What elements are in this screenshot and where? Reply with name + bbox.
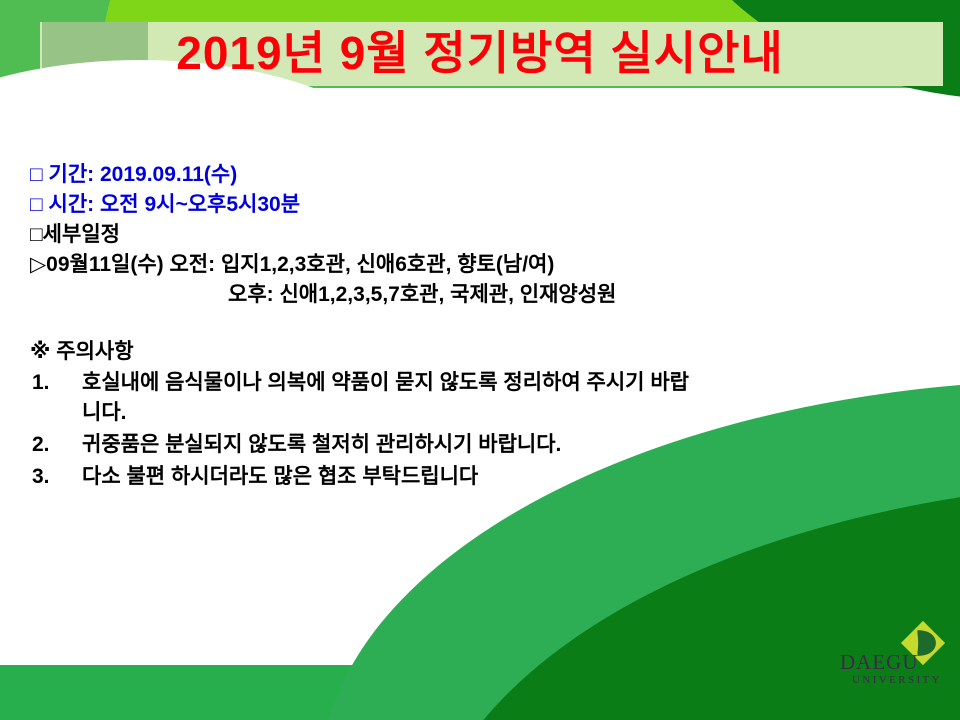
list-item-text: 귀중품은 분실되지 않도록 철저히 관리하시기 바랍니다. [82, 430, 940, 460]
schedule-afternoon: 오후: 신애1,2,3,5,7호관, 국제관, 인재양성원 [30, 280, 940, 310]
list-item-text-cont: 니다. [82, 398, 940, 428]
list-item-text: 호실내에 음식물이나 의복에 약품이 묻지 않도록 정리하여 주시기 바랍 [82, 368, 940, 398]
period-line: □ 기간: 2019.09.11(수) [30, 160, 940, 190]
time-line: □ 시간: 오전 9시~오후5시30분 [30, 190, 940, 220]
list-item: 1. 호실내에 음식물이나 의복에 약품이 묻지 않도록 정리하여 주시기 바랍… [30, 368, 940, 428]
schedule-morning: ▷09월11일(수) 오전: 입지1,2,3호관, 신애6호관, 향토(남/여) [30, 250, 940, 280]
content-body: □ 기간: 2019.09.11(수) □ 시간: 오전 9시~오후5시30분 … [30, 160, 940, 494]
list-item-number: 1. [32, 368, 72, 398]
slide-canvas: 2019년 9월 정기방역 실시안내 □ 기간: 2019.09.11(수) □… [0, 0, 960, 720]
notice-heading: ※ 주의사항 [30, 336, 940, 368]
logo-subtitle: UNIVERSITY [840, 675, 942, 686]
section-spacer [30, 310, 940, 336]
list-item: 2. 귀중품은 분실되지 않도록 철저히 관리하시기 바랍니다. [30, 430, 940, 460]
page-title: 2019년 9월 정기방역 실시안내 [0, 20, 960, 86]
list-item-number: 3. [32, 462, 72, 492]
list-item: 3. 다소 불편 하시더라도 많은 협조 부탁드립니다 [30, 462, 940, 492]
footer-green-band [0, 665, 960, 720]
daegu-university-logo: DAEGU UNIVERSITY [840, 622, 950, 692]
logo-wordmark: DAEGU UNIVERSITY [840, 652, 942, 686]
notice-list: 1. 호실내에 음식물이나 의복에 약품이 묻지 않도록 정리하여 주시기 바랍… [30, 368, 940, 492]
list-item-number: 2. [32, 430, 72, 460]
list-item-text: 다소 불편 하시더라도 많은 협조 부탁드립니다 [82, 462, 940, 492]
logo-name: DAEGU [840, 652, 942, 673]
detail-header: □세부일정 [30, 220, 940, 250]
